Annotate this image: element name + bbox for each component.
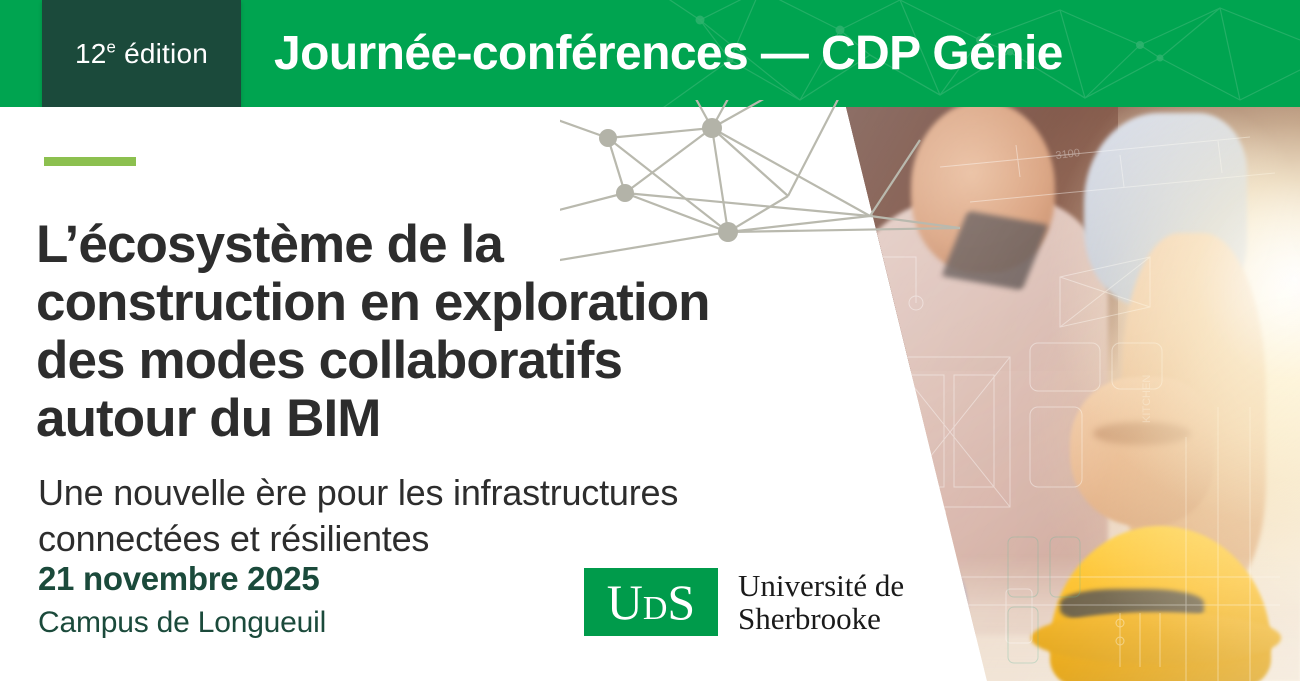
uds-logo-mark-text: UDS [607,577,695,627]
page-title: L’écosystème de laconstruction en explor… [36,216,866,448]
uds-logo-mark: UDS [584,568,718,636]
uds-logo: UDS Université deSherbrooke [584,568,904,636]
edition-badge: 12e édition [42,0,241,107]
photo-handshake [1070,377,1214,526]
header-bar: 12e édition Journée-conférences — CDP Gé… [0,0,1300,107]
conference-banner: 12e édition Journée-conférences — CDP Gé… [0,0,1300,681]
header-title: Journée-conférences — CDP Génie [274,0,1063,107]
accent-bar [44,157,136,166]
event-location: Campus de Longueuil [38,606,326,640]
event-date: 21 novembre 2025 [38,560,319,598]
edition-badge-label: 12e édition [75,38,208,70]
page-subtitle: Une nouvelle ère pour les infrastructure… [38,470,878,562]
photo-hardhat-brim [1031,612,1281,664]
uds-logo-wordmark: Université deSherbrooke [738,569,904,636]
